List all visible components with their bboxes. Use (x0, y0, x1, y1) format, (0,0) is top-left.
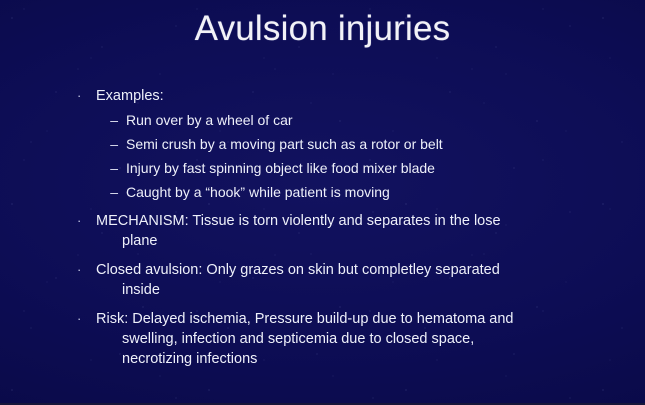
bullet-item: · Closed avulsion: Only grazes on skin b… (70, 256, 590, 300)
bullet-item: · Risk: Delayed ischemia, Pressure build… (70, 305, 590, 369)
bullet-text: Injury by fast spinning object like food… (126, 159, 590, 178)
bullet-marker-level2: – (70, 111, 126, 130)
bullet-text: Caught by a “hook” while patient is movi… (126, 183, 590, 202)
bullet-text-block: MECHANISM: Tissue is torn violently and … (96, 211, 590, 251)
bullet-text: Semi crush by a moving part such as a ro… (126, 135, 590, 154)
bullet-text-wrapped: plane (96, 231, 590, 251)
bullet-text: Run over by a wheel of car (126, 111, 590, 130)
bullet-item: – Caught by a “hook” while patient is mo… (70, 178, 590, 202)
slide-title: Avulsion injuries (0, 9, 645, 49)
slide-body: · Examples: – Run over by a wheel of car… (70, 82, 590, 369)
bullet-text-wrapped-2: necrotizing infections (96, 349, 590, 369)
bullet-marker-level1: · (70, 309, 96, 328)
bullet-marker-level1: · (70, 211, 96, 230)
bullet-item: · MECHANISM: Tissue is torn violently an… (70, 207, 590, 251)
bullet-text: Risk: Delayed ischemia, Pressure build-u… (96, 311, 514, 327)
bullet-text-block: Closed avulsion: Only grazes on skin but… (96, 260, 590, 300)
bullet-text: MECHANISM: Tissue is torn violently and … (96, 213, 501, 229)
bullet-item: · Examples: (70, 82, 590, 106)
bullet-marker-level2: – (70, 159, 126, 178)
bullet-marker-level2: – (70, 135, 126, 154)
bullet-marker-level2: – (70, 183, 126, 202)
bullet-marker-level1: · (70, 86, 96, 105)
bullet-item: – Semi crush by a moving part such as a … (70, 130, 590, 154)
bullet-text-block: Risk: Delayed ischemia, Pressure build-u… (96, 309, 590, 369)
bullet-text-wrapped: swelling, infection and septicemia due t… (96, 329, 590, 349)
bullet-text-wrapped: inside (96, 280, 590, 300)
slide-canvas: Avulsion injuries · Examples: – Run over… (0, 0, 645, 405)
bullet-text: Closed avulsion: Only grazes on skin but… (96, 262, 500, 278)
bullet-item: – Run over by a wheel of car (70, 106, 590, 130)
bullet-item: – Injury by fast spinning object like fo… (70, 154, 590, 178)
bullet-marker-level1: · (70, 260, 96, 279)
bullet-text: Examples: (96, 86, 590, 106)
